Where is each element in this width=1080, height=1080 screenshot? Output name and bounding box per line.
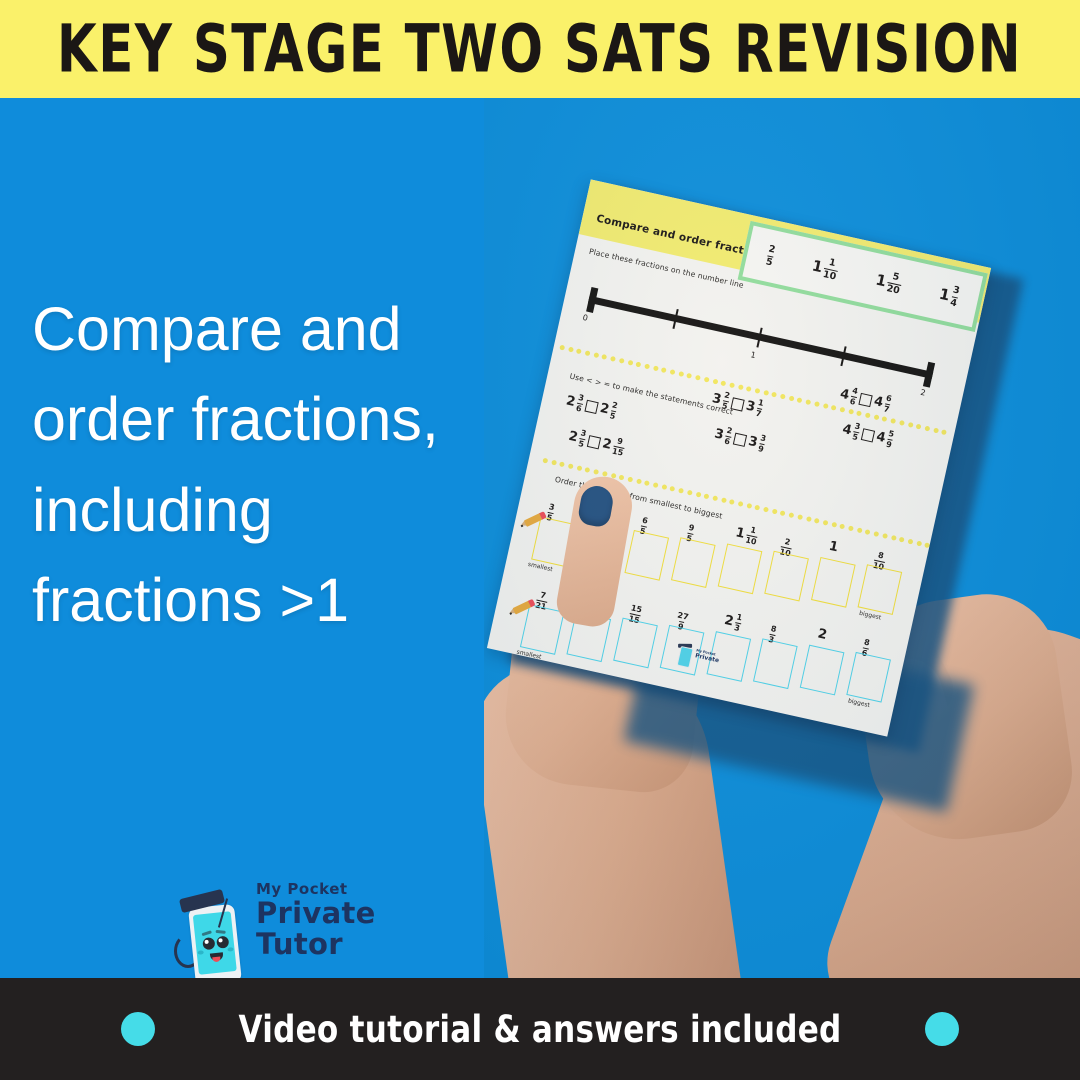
dot (568, 463, 574, 469)
fraction-denominator: 10 (779, 546, 792, 558)
fraction-whole: 4 (875, 429, 887, 446)
dot (899, 537, 905, 543)
fraction: 435 (841, 420, 861, 442)
ordering-fraction: 1515 (628, 597, 645, 625)
number-line: 0 1 2 (574, 273, 948, 410)
dot (670, 369, 676, 375)
fraction-whole: 1 (810, 257, 824, 277)
fraction-numerator: 27 (676, 611, 689, 622)
left-arm (484, 644, 752, 978)
fraction-denominator: 9 (677, 620, 685, 631)
ordering-answer-box[interactable] (718, 543, 763, 594)
comparison-statement: 236225 (564, 391, 618, 421)
fraction-stack: 721 (534, 591, 549, 612)
footer-dot-left (121, 1012, 155, 1046)
fraction-whole: 4 (839, 387, 851, 404)
dot (687, 373, 693, 379)
dot (831, 522, 837, 528)
fraction-numerator: 2 (726, 427, 733, 437)
dot (610, 473, 616, 479)
fraction-stack: 520 (886, 271, 904, 295)
ordering-answer-box[interactable] (520, 604, 565, 655)
comparison-statement: 435459 (841, 420, 895, 450)
fraction: 339 (746, 432, 766, 454)
fraction-stack: 23 (593, 593, 603, 613)
fraction-whole: 2 (567, 429, 579, 446)
comparison-answer-box[interactable] (858, 392, 872, 406)
dot (882, 416, 888, 422)
fraction: 467 (872, 392, 892, 414)
dot (559, 345, 565, 351)
fraction-numerator: 2 (784, 537, 791, 547)
given-fractions-list: 2511101520134 (742, 226, 983, 328)
dot (865, 412, 871, 418)
fraction-denominator: 21 (534, 600, 547, 612)
mascot-tongue (212, 957, 220, 963)
dot (738, 501, 744, 507)
fraction: 810 (872, 550, 887, 571)
fraction-stack: 83 (768, 625, 778, 645)
fraction-stack: 35 (546, 503, 556, 523)
ordering-answer-box[interactable] (660, 624, 705, 675)
fraction-whole: 3 (713, 426, 725, 443)
fraction: 1515 (628, 604, 643, 625)
fraction: 123 (583, 591, 603, 613)
dot (933, 427, 939, 433)
fraction-numerator: 3 (577, 394, 584, 404)
fraction-numerator: 8 (877, 551, 884, 561)
fraction: 317 (744, 397, 764, 419)
ordering-answer-box[interactable] (753, 638, 798, 689)
dot (873, 414, 879, 420)
ordering-fraction: 123 (583, 591, 603, 613)
fraction-numerator: 6 (641, 517, 648, 527)
fraction-numerator: 8 (770, 625, 777, 635)
fraction: 210 (779, 537, 794, 558)
number-line-label-end: 2 (920, 388, 927, 398)
fraction: 125 (594, 503, 614, 525)
headline-line-2: order fractions, (32, 374, 462, 464)
worksheet: Compare and order fractions 251110152013… (487, 179, 991, 736)
dot (712, 379, 718, 385)
fraction-stack: 67 (883, 395, 893, 415)
divider-dots (559, 345, 951, 436)
comparison-statement: 446467 (838, 385, 892, 415)
fraction-denominator: 15 (628, 613, 641, 625)
fraction-numerator: 9 (688, 523, 695, 533)
dot (865, 529, 871, 535)
top-banner: KEY STAGE TWO SATS REVISION (0, 0, 1080, 98)
fraction: 326 (713, 424, 733, 446)
fraction: 225 (598, 399, 618, 421)
fraction: 1 (827, 539, 839, 556)
dot (831, 405, 837, 411)
number-line-cap-start (586, 287, 598, 313)
fraction: 25 (765, 245, 776, 268)
dot (890, 535, 896, 541)
fraction: 86 (861, 638, 871, 658)
fraction-numerator: 3 (759, 434, 766, 444)
fraction-stack: 1515 (628, 604, 643, 625)
dot (585, 467, 591, 473)
dot (593, 352, 599, 358)
fraction-stack: 39 (757, 434, 767, 454)
fraction-denominator: 4 (949, 296, 958, 309)
fraction: 459 (874, 427, 894, 449)
pencil-icon (519, 512, 545, 530)
mascot-phone-body (188, 904, 242, 978)
footer-dot-right (925, 1012, 959, 1046)
fraction-numerator: 2 (596, 593, 603, 603)
given-fractions-box: 2511101520134 (738, 221, 988, 332)
smallest-label: smallest (527, 561, 553, 573)
dot (907, 422, 913, 428)
fraction-numerator: 7 (539, 591, 546, 601)
fraction-denominator: 5 (721, 400, 729, 411)
ordering-answer-box[interactable] (811, 557, 856, 608)
ordering-answer-box[interactable] (624, 530, 669, 581)
comparison-answer-box[interactable] (584, 399, 598, 413)
fraction-numerator: 1 (757, 399, 764, 409)
dot (746, 503, 752, 509)
dot (839, 407, 845, 413)
fraction-numerator: 3 (952, 285, 961, 297)
dot (856, 527, 862, 533)
ordering-fraction: 2 (816, 624, 829, 644)
fraction: 1520 (874, 269, 904, 296)
left-hand (499, 479, 719, 797)
dot (729, 382, 735, 388)
ordering-answer-box[interactable] (846, 651, 891, 702)
worksheet-shadow-lower (624, 614, 974, 812)
fraction-denominator: 3 (733, 622, 741, 633)
dot (636, 362, 642, 368)
footer-text: Video tutorial & answers included (238, 1008, 841, 1051)
ordering-fraction: 35 (546, 496, 557, 523)
mascot-icon (170, 890, 260, 978)
fraction-numerator: 6 (885, 395, 892, 405)
dot (568, 347, 574, 353)
fraction-denominator: 5 (577, 438, 585, 449)
worksheet-title: Compare and order fractions (595, 213, 769, 263)
ordering-answer-box[interactable] (800, 645, 845, 696)
logo-line-tutor: Tutor (256, 929, 416, 960)
fraction-whole: 4 (872, 394, 884, 411)
ordering-fraction: 83 (768, 618, 779, 645)
dot (670, 486, 676, 492)
fraction-denominator: 20 (886, 282, 901, 296)
ordering-answer-box[interactable] (764, 550, 809, 601)
fraction-denominator: 3 (768, 633, 776, 644)
dot (721, 497, 727, 503)
right-arm (810, 595, 1080, 978)
fraction-numerator: 9 (616, 437, 623, 447)
fraction: 236 (564, 391, 584, 413)
fraction-whole: 1 (583, 593, 595, 610)
dot (839, 524, 845, 530)
mascot-screen (193, 911, 237, 975)
comparison-answer-box[interactable] (733, 432, 747, 446)
fraction-stack: 46 (849, 387, 859, 407)
fraction-stack: 35 (577, 429, 587, 449)
fraction-denominator: 6 (861, 647, 869, 658)
fraction-whole: 2 (565, 393, 577, 410)
mascot-cheek-right (227, 947, 233, 952)
body-area: Compare and order fractions 251110152013… (0, 98, 1080, 978)
dot (644, 480, 650, 486)
dot (924, 426, 930, 432)
biggest-label: biggest (859, 610, 882, 622)
dot (763, 390, 769, 396)
fraction-stack: 279 (674, 611, 689, 632)
right-finger-2 (864, 650, 957, 761)
worksheet-logo-line2: Private (694, 653, 719, 665)
fraction-numerator: 2 (611, 401, 618, 411)
fraction-denominator: 5 (765, 255, 774, 268)
fraction-denominator: 9 (885, 439, 893, 450)
dot (602, 471, 608, 477)
fraction-whole: 2 (598, 401, 610, 418)
dot (695, 492, 701, 498)
ordering-fraction: 86 (861, 631, 872, 658)
poster-canvas: KEY STAGE TWO SATS REVISION Compare and … (0, 0, 1080, 1080)
fraction-numerator: 1 (735, 613, 742, 623)
mascot-brow-right (216, 930, 226, 934)
dot (789, 512, 795, 518)
number-line-tick (756, 328, 762, 348)
fraction-whole: 1 (938, 285, 952, 305)
fraction: 721 (534, 591, 549, 612)
dot (797, 514, 803, 520)
divider-dots (542, 458, 934, 549)
fraction-denominator: 10 (745, 534, 758, 546)
fraction-numerator: 3 (580, 429, 587, 439)
dot (755, 505, 761, 511)
instruction-number-line: Place these fractions on the number line (588, 247, 744, 290)
ordering-answer-box[interactable] (531, 516, 576, 567)
dot (678, 371, 684, 377)
fraction-denominator: 5 (546, 512, 554, 523)
dot (814, 518, 820, 524)
fraction: 279 (674, 611, 689, 632)
dot (873, 531, 879, 537)
fraction-stack: 26 (723, 427, 733, 447)
fraction-numerator: 1 (749, 526, 756, 536)
dot (627, 360, 633, 366)
fraction-denominator: 5 (639, 525, 647, 536)
dot (585, 350, 591, 356)
fraction-stack: 86 (861, 638, 871, 658)
dot (814, 401, 820, 407)
fraction-numerator: 2 (607, 505, 614, 515)
fraction-stack: 17 (755, 399, 765, 419)
ordering-answer-box[interactable] (578, 523, 623, 574)
dot (806, 516, 812, 522)
comparison-answer-box[interactable] (587, 435, 601, 449)
dot (848, 409, 854, 415)
dot (687, 490, 693, 496)
instruction-comparisons: Use < > = to make the statements correct (569, 372, 734, 417)
biggest-label: biggest (847, 697, 870, 709)
fraction-whole: 2 (816, 626, 828, 643)
fraction-denominator: 6 (849, 396, 857, 407)
fraction-whole: 3 (747, 434, 759, 451)
footer-bar: Video tutorial & answers included (0, 978, 1080, 1080)
comparison-statement: 326339 (713, 424, 767, 454)
fraction: 213 (722, 611, 742, 633)
fraction-denominator: 7 (883, 403, 891, 414)
dot (780, 394, 786, 400)
ordering-fraction: 65 (639, 510, 650, 537)
dot (780, 510, 786, 516)
headline-line-4: fractions >1 (32, 555, 462, 645)
comparison-answer-box[interactable] (861, 428, 875, 442)
fraction-stack: 95 (686, 523, 696, 543)
dot (551, 460, 557, 466)
dot (610, 356, 616, 362)
dot (644, 363, 650, 369)
dot (661, 367, 667, 373)
fraction-denominator: 5 (609, 410, 617, 421)
dot (619, 475, 625, 481)
fraction-stack: 36 (575, 394, 585, 414)
dot (729, 499, 735, 505)
dot (848, 525, 854, 531)
graduation-cap-icon (678, 644, 692, 648)
dot (737, 384, 743, 390)
fraction-denominator: 6 (723, 436, 731, 447)
ordering-answer-box[interactable] (671, 537, 716, 588)
ordering-answer-box[interactable] (567, 611, 612, 662)
fraction: 325 (710, 389, 730, 411)
ordering-fraction: 213 (722, 611, 742, 633)
fraction-numerator: 8 (863, 638, 870, 648)
fraction-stack: 915 (611, 437, 626, 458)
fraction-stack: 25 (721, 391, 731, 411)
fraction-denominator: 10 (872, 559, 885, 571)
fraction-stack: 25 (765, 245, 776, 268)
number-line-tick (840, 346, 846, 366)
ordering-fraction: 1 (827, 537, 840, 557)
dot (704, 493, 710, 499)
mascot-brow-left (202, 930, 212, 936)
dot (619, 358, 625, 364)
fraction-whole: 1 (874, 271, 888, 291)
fraction-denominator: 5 (605, 514, 613, 525)
fraction-stack: 110 (822, 257, 840, 281)
fraction-denominator: 9 (757, 443, 765, 454)
worksheet-shadow (508, 188, 1023, 752)
dot (627, 476, 633, 482)
dot (576, 465, 582, 471)
fraction: 134 (937, 283, 960, 309)
fraction: 35 (546, 503, 556, 523)
dot (823, 520, 829, 526)
dot (678, 488, 684, 494)
dot (771, 392, 777, 398)
dot (797, 397, 803, 403)
dot (941, 429, 947, 435)
fraction-whole: 3 (744, 398, 756, 415)
dot (653, 365, 659, 371)
fraction-whole: 1 (734, 525, 746, 542)
fraction: 2915 (600, 434, 626, 457)
fraction: 235 (567, 427, 587, 449)
dot (788, 395, 794, 401)
fraction-stack: 110 (745, 526, 760, 547)
headline-line-3: including (32, 465, 462, 555)
dot (661, 484, 667, 490)
ordering-answer-box[interactable] (858, 564, 903, 615)
dot (542, 458, 548, 464)
top-banner-title: KEY STAGE TWO SATS REVISION (57, 11, 1022, 87)
fraction: 1110 (810, 255, 840, 282)
fraction-whole: 1 (594, 505, 606, 522)
fraction-stack: 65 (639, 517, 649, 537)
fraction-whole: 2 (723, 613, 735, 630)
number-line-bar (588, 296, 933, 379)
dot (763, 507, 769, 513)
fraction-denominator: 6 (575, 403, 583, 414)
fraction-whole: 4 (841, 422, 853, 439)
mascot-cheek-left (198, 950, 204, 955)
fraction-stack: 35 (851, 422, 861, 442)
fraction-numerator: 1 (828, 258, 837, 270)
dot (822, 403, 828, 409)
dot (746, 386, 752, 392)
ordering-fraction: 810 (872, 544, 889, 572)
fraction-denominator: 10 (822, 267, 837, 281)
ordering-answer-box[interactable] (706, 631, 751, 682)
dot (907, 539, 913, 545)
smallest-label: smallest (516, 649, 542, 661)
fraction-stack: 25 (609, 401, 619, 421)
fraction-denominator: 5 (851, 431, 859, 442)
page-title: Compare and order fractions, including f… (32, 284, 462, 645)
fraction-stack: 13 (733, 613, 743, 633)
fraction-stack: 34 (949, 285, 960, 308)
fraction: 2 (816, 626, 828, 643)
fraction-stack: 59 (885, 430, 895, 450)
fraction-numerator: 3 (548, 503, 555, 513)
phone-mascot-icon (677, 646, 694, 668)
number-line-cap-end (923, 362, 935, 388)
photo-scene: Compare and order fractions 251110152013… (484, 98, 1080, 978)
dot (924, 542, 930, 548)
left-thumb-nail (577, 484, 615, 529)
right-hand (848, 585, 1079, 850)
fraction-whole: 3 (711, 391, 723, 408)
dot (704, 377, 710, 383)
number-line-label-mid: 1 (750, 350, 757, 360)
fraction-numerator: 15 (630, 604, 643, 615)
ordering-fraction: 721 (534, 584, 551, 612)
comparison-answer-box[interactable] (730, 397, 744, 411)
worksheet-logo: My Pocket Private (670, 642, 730, 680)
fraction-denominator: 7 (755, 408, 763, 419)
fraction: 65 (639, 517, 649, 537)
dot (882, 533, 888, 539)
ordering-answer-box[interactable] (613, 618, 658, 669)
ordering-fraction: 95 (686, 517, 697, 544)
fraction-numerator: 5 (887, 430, 894, 440)
dot (916, 540, 922, 546)
dot (890, 418, 896, 424)
fraction: 446 (838, 385, 858, 407)
dot (916, 424, 922, 430)
brand-logo-text: My Pocket Private Tutor (256, 880, 416, 961)
dot (856, 411, 862, 417)
